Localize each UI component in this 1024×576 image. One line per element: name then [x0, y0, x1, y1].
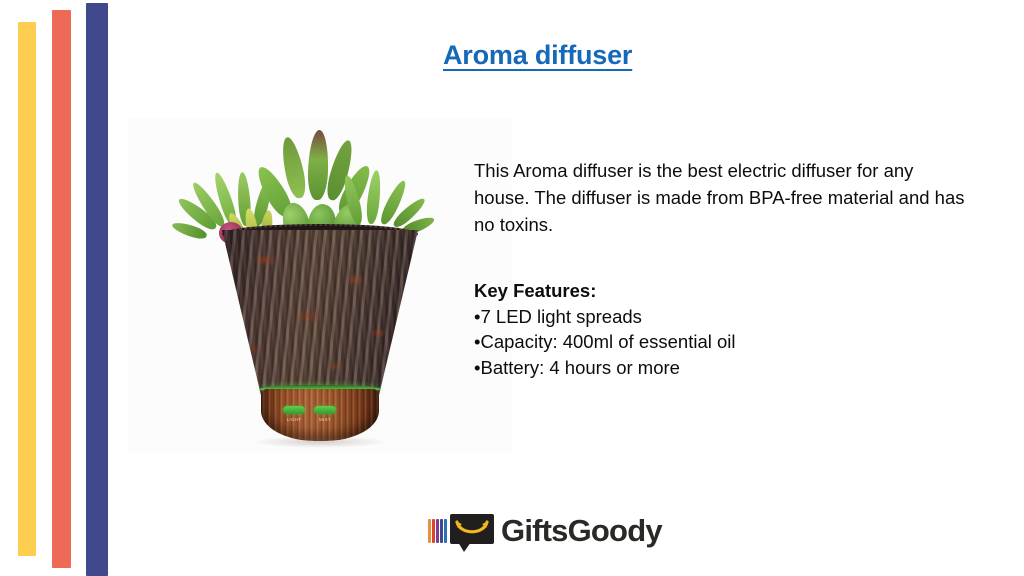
product-shadow [253, 436, 387, 448]
logo-bar-4 [440, 519, 443, 543]
decor-stripe-blue [86, 3, 108, 576]
key-features-block: Key Features: •7 LED light spreads •Capa… [474, 278, 934, 380]
product-description: This Aroma diffuser is the best electric… [474, 157, 969, 238]
page-title: Aroma diffuser [443, 40, 632, 71]
decor-stripe-yellow [18, 22, 36, 556]
brand-name: GiftsGoody [501, 513, 662, 549]
logo-bar-2 [432, 519, 435, 543]
logo-bar-5 [444, 519, 447, 543]
mist-button[interactable] [314, 406, 336, 414]
speech-bubble-tail-icon [458, 542, 471, 552]
decor-stripe-red [52, 10, 71, 568]
brand-logo: GiftsGoody [428, 510, 660, 554]
light-button-label: LIGHT [279, 417, 309, 422]
copper-base [261, 389, 379, 441]
smile-arrow-icon [455, 519, 489, 539]
mist-button-label: MIST [310, 417, 340, 422]
product-illustration: LIGHT MIST [195, 126, 445, 444]
logo-bar-1 [428, 519, 431, 543]
key-features-heading: Key Features: [474, 278, 934, 304]
light-button[interactable] [283, 406, 305, 414]
feature-item: •Battery: 4 hours or more [474, 355, 934, 381]
slide-canvas: Aroma diffuser [0, 0, 1024, 576]
feature-item: •Capacity: 400ml of essential oil [474, 329, 934, 355]
bark-pot [222, 230, 418, 396]
logo-bar-3 [436, 519, 439, 543]
product-image: LIGHT MIST [128, 118, 512, 452]
feature-item: •7 LED light spreads [474, 304, 934, 330]
